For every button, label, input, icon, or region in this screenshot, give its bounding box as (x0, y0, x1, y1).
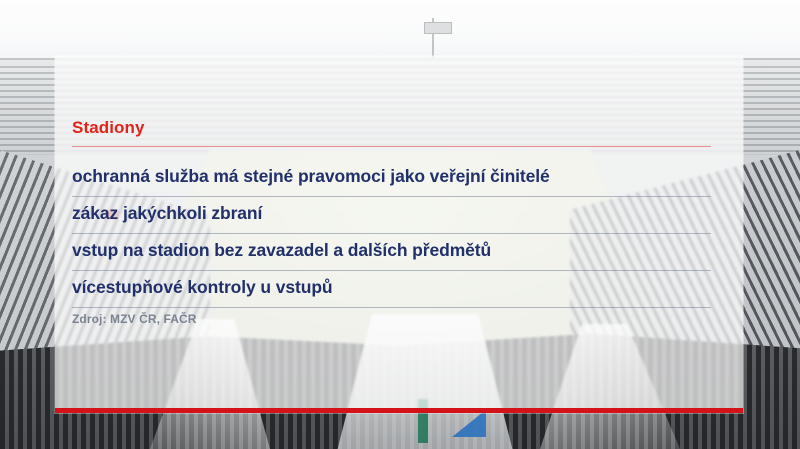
info-panel: Stadiony ochranná služba má stejné pravo… (55, 56, 743, 413)
panel-accent-bar (55, 408, 743, 413)
source-note: Zdroj: MZV ČR, FAČR (72, 312, 197, 326)
list-item: zákaz jakýchkoli zbraní (72, 197, 711, 234)
list-item-label: ochranná služba má stejné pravomoci jako… (72, 166, 550, 187)
list-item: ochranná služba má stejné pravomoci jako… (72, 160, 711, 197)
list-item-label: vícestupňové kontroly u vstupů (72, 277, 333, 298)
page-title: Stadiony (72, 118, 145, 138)
list-item-divider (72, 307, 711, 308)
list-item-label: vstup na stadion bez zavazadel a dalších… (72, 240, 491, 261)
list-item: vícestupňové kontroly u vstupů (72, 271, 711, 308)
title-divider (72, 146, 711, 147)
list-item-label: zákaz jakýchkoli zbraní (72, 203, 262, 224)
list-item: vstup na stadion bez zavazadel a dalších… (72, 234, 711, 271)
bullet-list: ochranná služba má stejné pravomoci jako… (72, 160, 711, 308)
